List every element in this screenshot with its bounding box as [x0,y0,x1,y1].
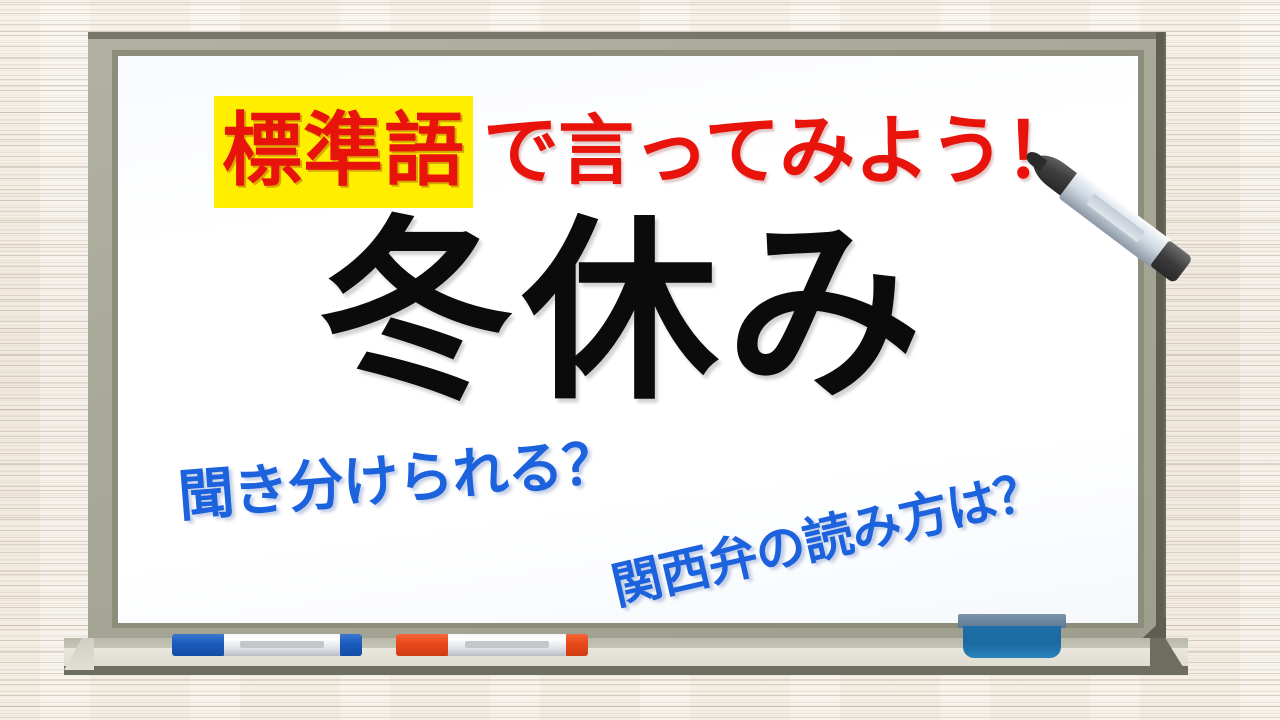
eraser-body [963,626,1061,658]
whiteboard-eraser [958,614,1066,658]
marker-tray-shadow [64,666,1188,675]
marker-red-tail [566,634,588,656]
marker-blue-cap [172,634,224,656]
tray-marker-red [396,634,588,656]
frame-right-edge [1156,32,1164,648]
main-word: 冬休み [318,208,930,418]
slide-stage: 標準語 で言ってみよう！ 冬休み 聞き分けられる？ 関西弁の読み方は？ [0,0,1280,720]
marker-red-barrel [448,634,566,656]
frame-top-edge [88,32,1164,39]
tray-marker-blue [172,634,362,656]
marker-red-cap [396,634,448,656]
marker-blue-tail [340,634,362,656]
marker-blue-barrel [224,634,340,656]
headline-highlighted-term: 標準語 [214,96,473,208]
headline: 標準語 で言ってみよう！ [214,96,1079,208]
headline-rest: で言ってみよう！ [483,105,1079,198]
